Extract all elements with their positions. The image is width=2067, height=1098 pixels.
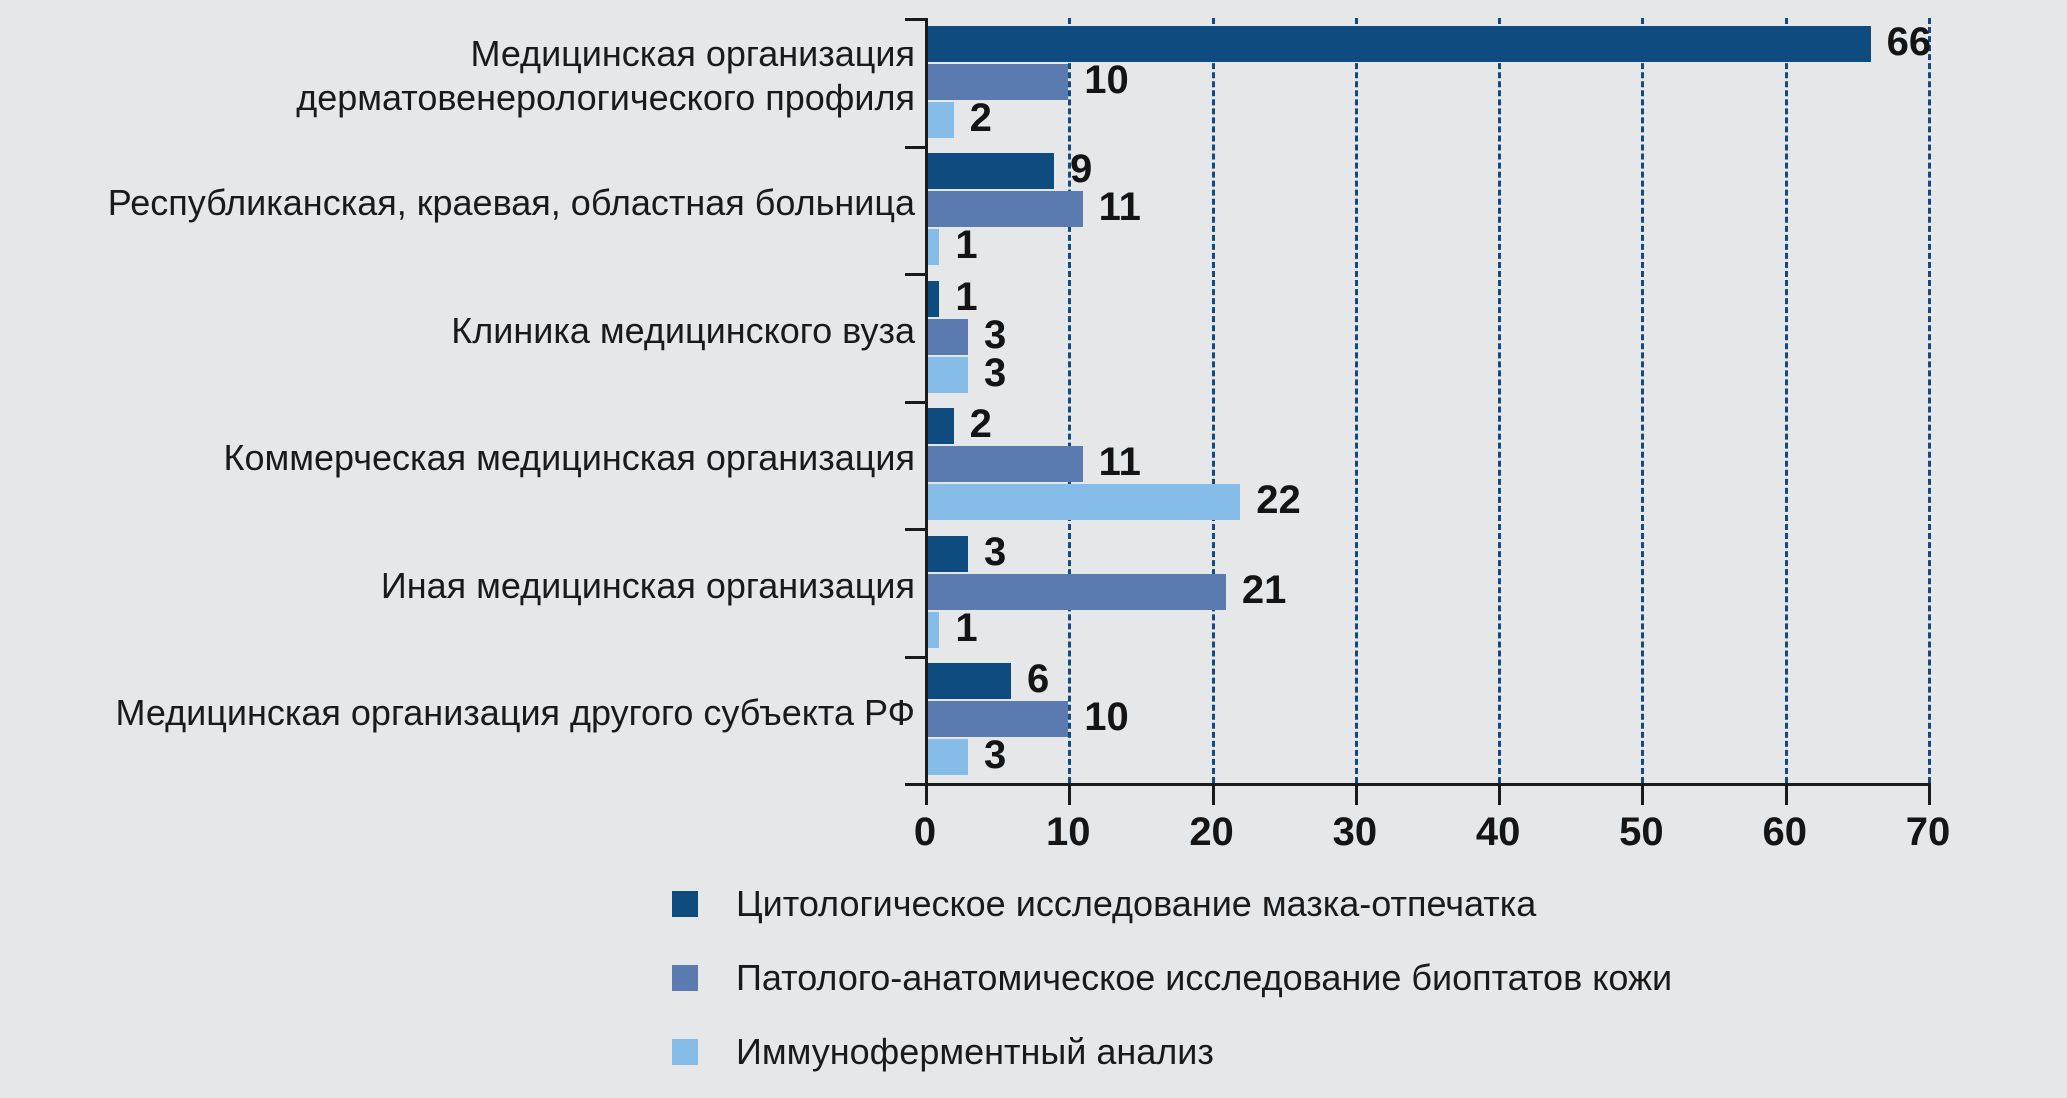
x-tick-0 [925,783,928,805]
bar-value-label: 1 [955,223,977,268]
bar [925,446,1083,482]
category-label: Медицинская организация другого субъекта… [116,691,916,735]
legend-swatch-icon [672,1039,698,1065]
gridline-70 [1928,18,1931,783]
chart-legend: Цитологическое исследование мазка-отпеча… [672,876,1672,1098]
bar-value-label: 1 [955,275,977,320]
x-axis-line [925,783,1931,786]
x-tick-label-10: 10 [1008,810,1128,855]
x-tick-20 [1212,783,1215,805]
legend-item[interactable]: Патолого-анатомическое исследование биоп… [672,950,1672,1006]
legend-label: Патолого-анатомическое исследование биоп… [736,957,1672,999]
x-tick-30 [1355,783,1358,805]
y-axis-tick [905,146,925,149]
bar [925,191,1083,227]
bar [925,357,968,393]
x-tick-10 [1068,783,1071,805]
bar [925,739,968,775]
y-axis-tick [905,656,925,659]
category-label: Республиканская, краевая, областная боль… [108,181,915,225]
bar-value-label: 10 [1084,58,1129,103]
bar [925,701,1068,737]
y-axis-line [925,18,928,783]
bar [925,319,968,355]
x-tick-label-40: 40 [1438,810,1558,855]
x-tick-70 [1928,783,1931,805]
category-label: Иная медицинская организация [381,564,915,608]
bar [925,408,954,444]
x-tick-label-20: 20 [1152,810,1272,855]
plot-area: 6610291111332112232116103 [925,18,1928,783]
y-axis-tick [905,401,925,404]
x-tick-label-30: 30 [1295,810,1415,855]
bar [925,536,968,572]
bar-value-label: 2 [970,96,992,141]
bar [925,484,1240,520]
bar-chart: 6610291111332112232116103 01020304050607… [0,0,2067,1088]
bar-value-label: 6 [1027,657,1049,702]
bar-value-label: 3 [984,530,1006,575]
x-tick-label-0: 0 [865,810,985,855]
legend-item[interactable]: Цитологическое исследование мазка-отпеча… [672,876,1672,932]
x-tick-label-50: 50 [1581,810,1701,855]
bar-value-label: 1 [955,606,977,651]
bar [925,64,1068,100]
x-tick-50 [1641,783,1644,805]
legend-swatch-icon [672,891,698,917]
bar-value-label: 21 [1242,568,1287,613]
bar-value-label: 11 [1099,440,1141,485]
category-label: Медицинская организация дерматовенеролог… [296,32,915,120]
legend-item[interactable]: Иммуноферментный анализ [672,1024,1672,1080]
category-label: Клиника медицинского вуза [451,309,915,353]
x-tick-label-60: 60 [1725,810,1845,855]
bar-value-label: 3 [984,733,1006,778]
x-tick-60 [1785,783,1788,805]
x-tick-label-70: 70 [1868,810,1988,855]
bar-value-label: 2 [970,402,992,447]
bar-value-label: 9 [1070,147,1092,192]
y-axis-tick [905,528,925,531]
bar-value-label: 3 [984,351,1006,396]
legend-label: Иммуноферментный анализ [736,1031,1214,1073]
x-tick-40 [1498,783,1501,805]
bar [925,26,1871,62]
y-axis-tick [905,18,925,21]
legend-swatch-icon [672,965,698,991]
bar-value-label: 66 [1887,20,1932,65]
bar [925,153,1054,189]
bar-value-label: 11 [1099,185,1141,230]
bar-value-label: 22 [1256,478,1301,523]
bar [925,663,1011,699]
category-label: Коммерческая медицинская организация [224,436,916,480]
legend-label: Цитологическое исследование мазка-отпеча… [736,883,1536,925]
y-axis-tick [905,783,925,786]
bar [925,574,1226,610]
bar-value-label: 10 [1084,695,1129,740]
y-axis-tick [905,273,925,276]
bar [925,102,954,138]
